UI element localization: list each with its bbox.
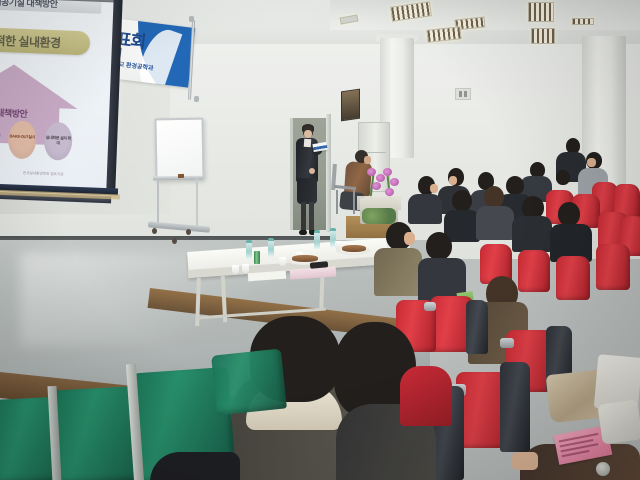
orchid-bloom [383, 168, 392, 176]
slide-bubble: 실내화분 설치 확대 [43, 122, 72, 161]
beverage-can-icon [596, 462, 610, 476]
auditorium-seat-back[interactable] [466, 300, 488, 354]
presenter-face [304, 130, 312, 138]
presenter-hand [309, 168, 315, 174]
audience-body [374, 248, 422, 296]
wall-outlet-icon [455, 88, 471, 100]
water-bottle-icon [246, 240, 252, 259]
paper-cup-icon [242, 264, 249, 273]
food-items [292, 255, 318, 262]
foreground-shadow [150, 452, 240, 480]
auditorium-seat[interactable] [596, 244, 630, 290]
paper-cup-icon [279, 257, 286, 266]
orchid-bloom [367, 168, 376, 176]
house-roof-icon [0, 62, 79, 109]
presenter-skirt [297, 178, 317, 204]
audience-body [476, 206, 514, 240]
front-row-seat[interactable] [211, 349, 287, 416]
banner-pole-cap-bottom [194, 96, 199, 102]
ceiling-light-icon [572, 18, 594, 25]
audience-face [404, 232, 415, 245]
auditorium-seat[interactable] [556, 256, 590, 300]
seated-attendee-face [364, 156, 371, 164]
caster-wheel-icon [152, 228, 157, 234]
presenter-leg [301, 202, 306, 232]
audience-body [408, 194, 442, 224]
slide-subtitle: 쾌적한 실내환경 [0, 31, 61, 51]
orchid-bloom [372, 182, 381, 190]
whiteboard-marker-icon [178, 174, 184, 178]
whiteboard-leg [196, 178, 198, 226]
auditorium-seat-back[interactable] [500, 362, 530, 452]
water-bottle-icon [268, 238, 274, 257]
banner-pole-cap-top [189, 16, 194, 22]
door-jamb [326, 114, 331, 232]
presenter-leg [309, 202, 314, 232]
slide-bubble: 흡연구역 추가설치 [0, 119, 1, 158]
audience-face [430, 184, 438, 193]
stage-chair-leg [353, 190, 355, 214]
auditorium-seat[interactable] [518, 250, 550, 292]
orchid-bloom [385, 188, 394, 196]
presenter-shoe [299, 230, 307, 235]
audience-head [452, 190, 472, 211]
audience-hand [512, 452, 538, 470]
audience-face [587, 158, 596, 167]
seat-armrest[interactable] [500, 338, 514, 348]
audience-head [556, 170, 570, 185]
audience-head [484, 186, 504, 208]
caster-wheel-icon [186, 229, 191, 235]
house-label: 실내공기질 대책방안 [0, 104, 28, 120]
plastic-bag [597, 399, 640, 444]
audience-body [512, 216, 552, 252]
food-items [342, 245, 366, 252]
audience-head [506, 176, 524, 195]
stage-chair-leg [336, 190, 338, 214]
ceiling-light-icon [531, 28, 555, 44]
mobile-whiteboard [154, 118, 204, 181]
orchid-bloom [376, 174, 385, 182]
orchid-bloom [390, 178, 399, 186]
slide-subtitle-pill: 쾌적한 실내환경 [0, 27, 90, 56]
water-bottle-icon [314, 230, 320, 249]
presenter-collar [304, 139, 312, 147]
audience-head [426, 232, 452, 260]
paper-cup-icon [232, 265, 239, 274]
ceiling-light-icon [528, 2, 554, 22]
audience-face [449, 176, 457, 185]
audience-head [558, 202, 580, 226]
beverage-can-icon [254, 251, 260, 264]
seminar-room-photo: 발표회 표회 구대학교 환경공학과 실내공기질 대책방안 쾌적한 실내환경 실내… [0, 0, 640, 480]
slide-bubble: BAKE-OUT실시 [7, 120, 36, 159]
slide-footer: 한국실내환경학회 발표자료 [23, 171, 64, 178]
wall-speaker-icon [341, 89, 360, 122]
slide-bubble-group: 환기설비 흡연구역 추가설치 BAKE-OUT실시 실내화분 설치 확대 [0, 118, 103, 168]
whiteboard-leg [157, 178, 159, 228]
red-scarf [400, 366, 452, 426]
caster-wheel-icon [172, 238, 177, 244]
seat-armrest[interactable] [424, 302, 436, 311]
projection-screen: 실내공기질 대책방안 쾌적한 실내환경 실내공기질 대책방안 환기설비 흡연구역… [0, 0, 120, 196]
orchid-foliage [362, 208, 396, 224]
